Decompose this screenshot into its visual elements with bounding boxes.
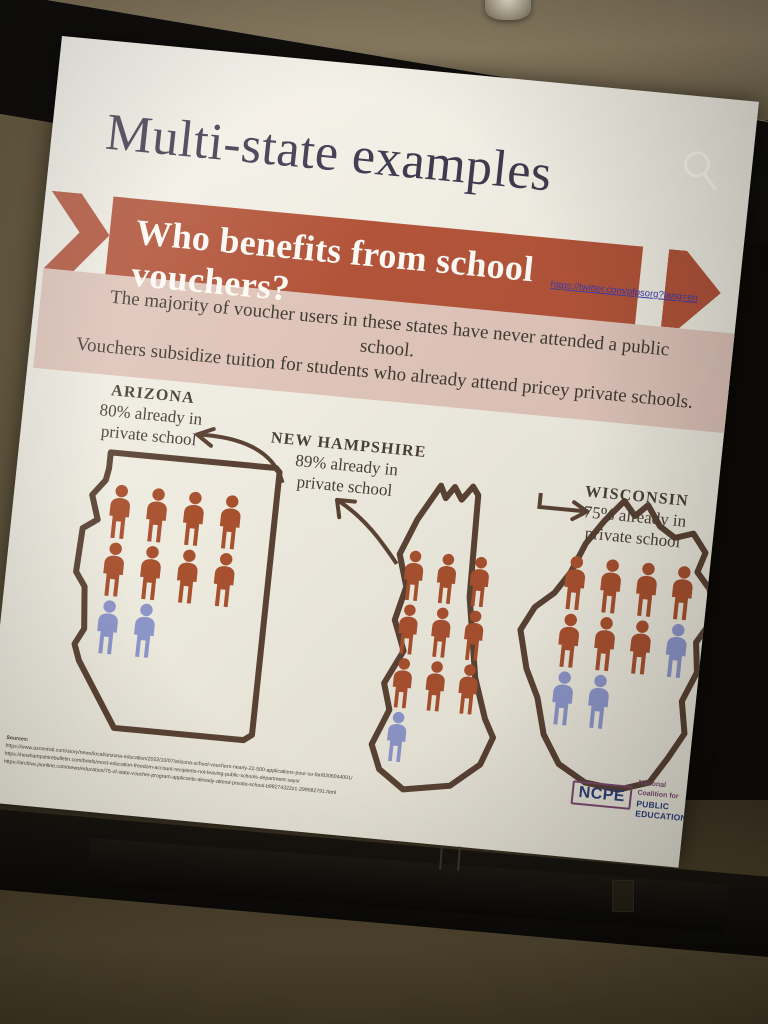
magnifier-icon (677, 147, 723, 193)
person-icon (581, 672, 617, 731)
person-icon (463, 554, 496, 608)
projection-screen: Multi-state examples The majority of vou… (0, 36, 759, 868)
slide-title: Multi-state examples (103, 103, 555, 204)
slide-canvas: Multi-state examples The majority of vou… (0, 36, 759, 868)
person-icon (96, 540, 132, 599)
person-icon (126, 601, 162, 660)
tray-handle (439, 845, 461, 870)
figure-row (386, 656, 503, 718)
wisconsin-pointer-arrow (534, 489, 601, 531)
arizona-figure-grid (89, 482, 255, 669)
person-icon (397, 548, 430, 602)
person-icon (139, 486, 175, 545)
person-icon (102, 482, 138, 541)
person-icon (418, 659, 451, 713)
person-icon (206, 550, 242, 609)
person-icon (545, 669, 581, 728)
person-icon (391, 602, 424, 656)
person-icon (380, 709, 413, 763)
person-icon (551, 611, 587, 670)
figure-row (380, 709, 497, 771)
person-icon (664, 564, 700, 623)
figure-row (90, 598, 243, 668)
photo-of-projected-slide: Multi-state examples The majority of vou… (0, 0, 768, 1024)
ncpe-wordmark: National Coalition for PUBLIC EDUCATION (635, 779, 691, 824)
person-icon (658, 621, 694, 680)
wisconsin-figure-grid (544, 553, 710, 740)
person-icon (587, 614, 623, 673)
banner-left-chevron (44, 191, 114, 274)
ncpe-line-2: PUBLIC EDUCATION (635, 798, 689, 823)
person-icon (169, 547, 205, 606)
ncpe-mark: NCPE (570, 780, 633, 810)
person-icon (557, 553, 593, 612)
person-icon (622, 618, 658, 677)
wall-plate (612, 880, 634, 912)
person-icon (430, 551, 463, 605)
figure-row (391, 602, 508, 664)
person-icon (386, 656, 419, 710)
person-icon (593, 557, 629, 616)
figure-row (545, 669, 698, 739)
person-icon (133, 543, 169, 602)
person-icon (451, 662, 484, 716)
person-icon (628, 560, 664, 619)
person-icon (457, 608, 490, 662)
figure-row (397, 548, 514, 610)
ceiling-light-fixture (485, 0, 531, 20)
new-hampshire-figure-grid (380, 548, 514, 773)
person-icon (424, 605, 457, 659)
ncpe-logo: NCPE National Coalition for PUBLIC EDUCA… (570, 775, 677, 819)
person-icon (90, 598, 126, 657)
person-icon (175, 489, 211, 548)
person-icon (212, 493, 248, 552)
